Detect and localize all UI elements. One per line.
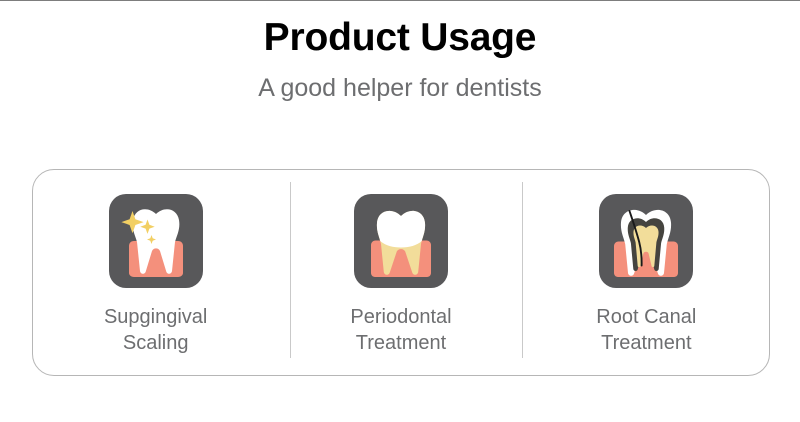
usage-item-label: Supgingival Scaling	[104, 305, 207, 356]
tooth-sparkle-icon	[109, 194, 203, 288]
page-root: Product Usage A good helper for dentists	[0, 0, 800, 422]
top-border-rule	[0, 0, 800, 1]
usage-item-scaling[interactable]: Supgingival Scaling	[33, 170, 278, 375]
usage-item-root-canal[interactable]: Root Canal Treatment	[524, 170, 769, 375]
tooth-root-canal-icon	[599, 194, 693, 288]
page-subtitle: A good helper for dentists	[0, 73, 800, 103]
page-title: Product Usage	[0, 16, 800, 61]
usage-item-label: Root Canal Treatment	[596, 305, 696, 356]
tooth-gum-icon	[354, 194, 448, 288]
usage-card-inner: Supgingival Scaling Periodontal Treatmen…	[33, 170, 769, 375]
usage-card: Supgingival Scaling Periodontal Treatmen…	[32, 169, 770, 376]
heading-block: Product Usage A good helper for dentists	[0, 16, 800, 103]
usage-item-label: Periodontal Treatment	[350, 305, 451, 356]
usage-item-periodontal[interactable]: Periodontal Treatment	[278, 170, 523, 375]
